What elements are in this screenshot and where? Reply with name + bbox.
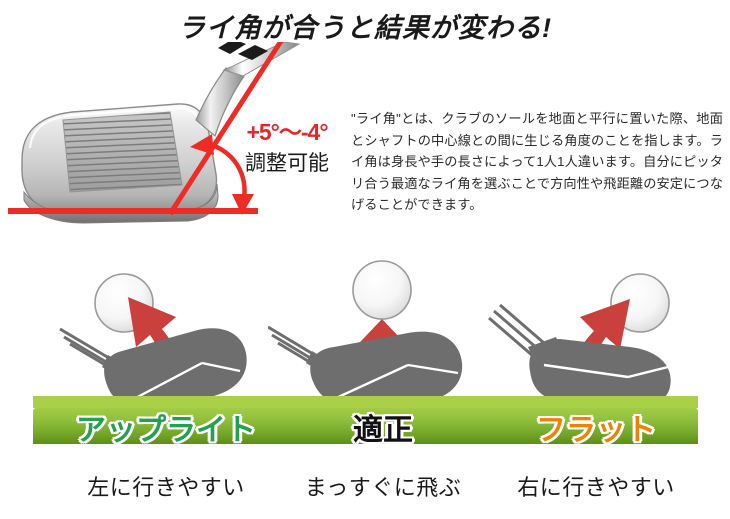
caption-upright: 左に行きやすい [46, 470, 286, 502]
column-label-proper-wrap: 適正 [263, 414, 503, 448]
golf-ball [353, 261, 411, 319]
label-proper: 適正 [353, 414, 413, 447]
infographic-canvas: ライ角が合うと結果が変わる! [0, 0, 730, 519]
flat-illustration [478, 255, 708, 405]
page-title: ライ角が合うと結果が変わる! [0, 6, 730, 45]
upright-illustration [52, 255, 282, 405]
label-flat: フラット [536, 414, 656, 447]
label-upright: アップライト [76, 414, 256, 447]
column-label-upright-wrap: アップライト [46, 414, 286, 448]
grass-strip [33, 396, 698, 408]
column-label-flat-wrap: フラット [476, 414, 716, 448]
angle-adjust-label: 調整可能 [231, 147, 343, 177]
lie-angle-description: "ライ角"とは、クラブのソールを地面と平行に置いた際、地面とシャフトの中心線との… [351, 108, 723, 216]
caption-proper: まっすぐに飛ぶ [263, 470, 503, 502]
ground-reference-line [8, 208, 258, 214]
proper-illustration [268, 255, 498, 405]
angle-range-label: +5°〜-4° [231, 113, 343, 147]
caption-flat: 右に行きやすい [476, 470, 716, 502]
